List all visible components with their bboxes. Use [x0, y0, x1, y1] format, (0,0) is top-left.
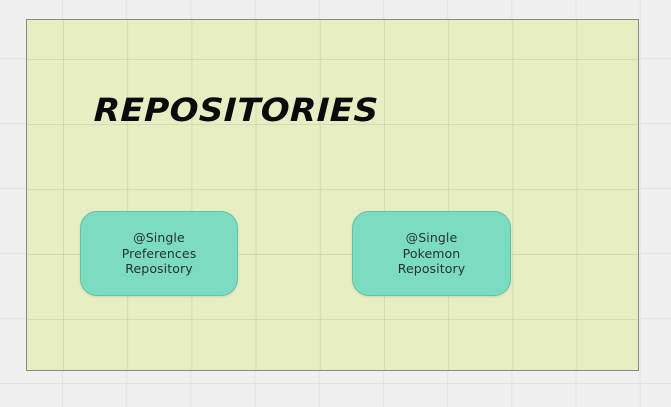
frame-title: Repositories [93, 80, 380, 131]
node-single-preferences-repository[interactable]: @Single Preferences Repository [80, 211, 238, 296]
diagram-canvas[interactable]: Repositories @Single Preferences Reposit… [0, 0, 671, 407]
node-label-single-preferences-repository: @Single Preferences Repository [122, 230, 197, 277]
repositories-frame[interactable]: Repositories @Single Preferences Reposit… [26, 19, 639, 371]
node-single-pokemon-repository[interactable]: @Single Pokemon Repository [352, 211, 511, 296]
frame-grid-overlay [27, 20, 638, 370]
node-label-single-pokemon-repository: @Single Pokemon Repository [398, 230, 465, 277]
